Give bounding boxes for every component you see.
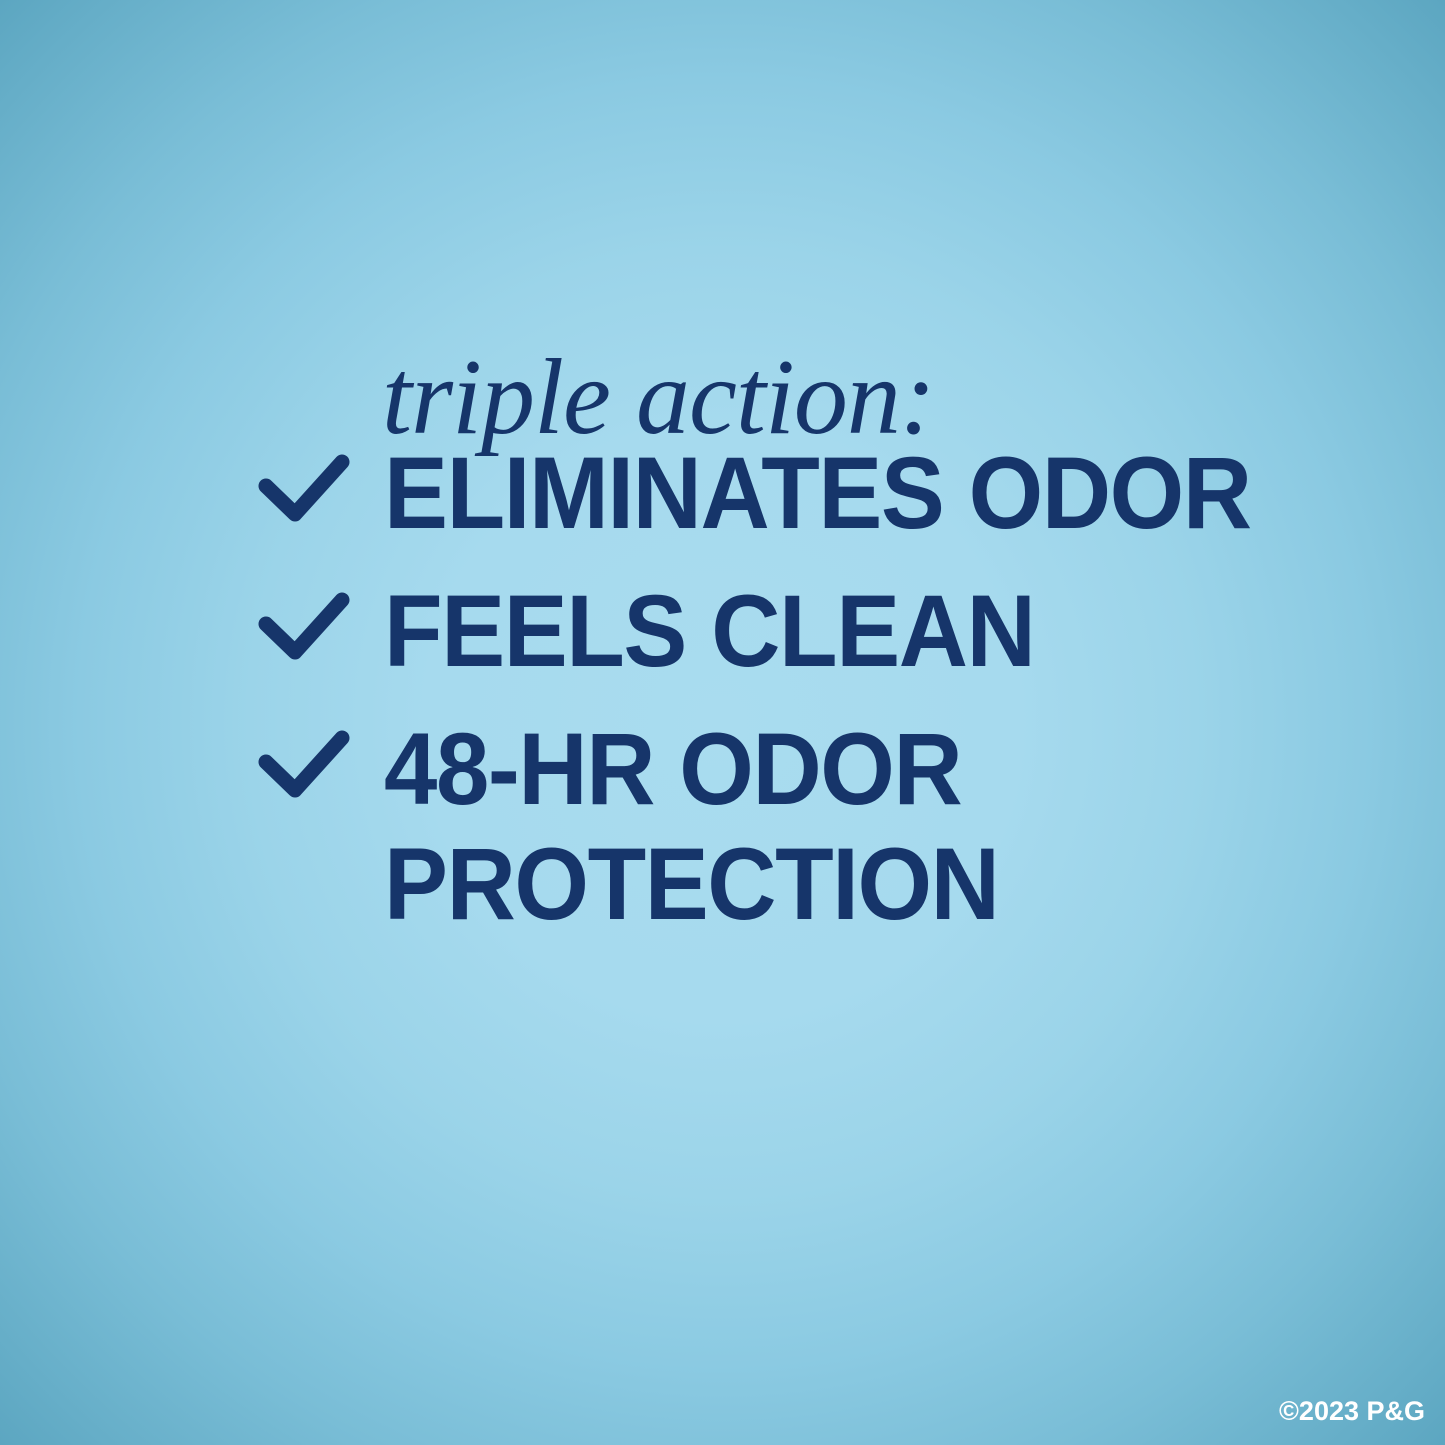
list-item: ELIMINATES ODOR xyxy=(40,436,1445,550)
copyright-notice: ©2023 P&G xyxy=(1279,1396,1425,1427)
list-item: 48-HR ODOR PROTECTION xyxy=(40,712,1445,940)
benefit-list: ELIMINATES ODOR FEELS CLEAN 48-HR ODOR P… xyxy=(0,436,1445,965)
benefit-label-eliminates-odor: ELIMINATES ODOR xyxy=(40,436,1398,550)
ad-canvas: triple action: ELIMINATES ODOR FEELS CLE… xyxy=(0,0,1445,1445)
benefit-label-48hr-odor-protection: 48-HR ODOR PROTECTION xyxy=(40,712,1398,940)
benefit-label-feels-clean: FEELS CLEAN xyxy=(40,574,1398,688)
list-item: FEELS CLEAN xyxy=(40,574,1445,688)
